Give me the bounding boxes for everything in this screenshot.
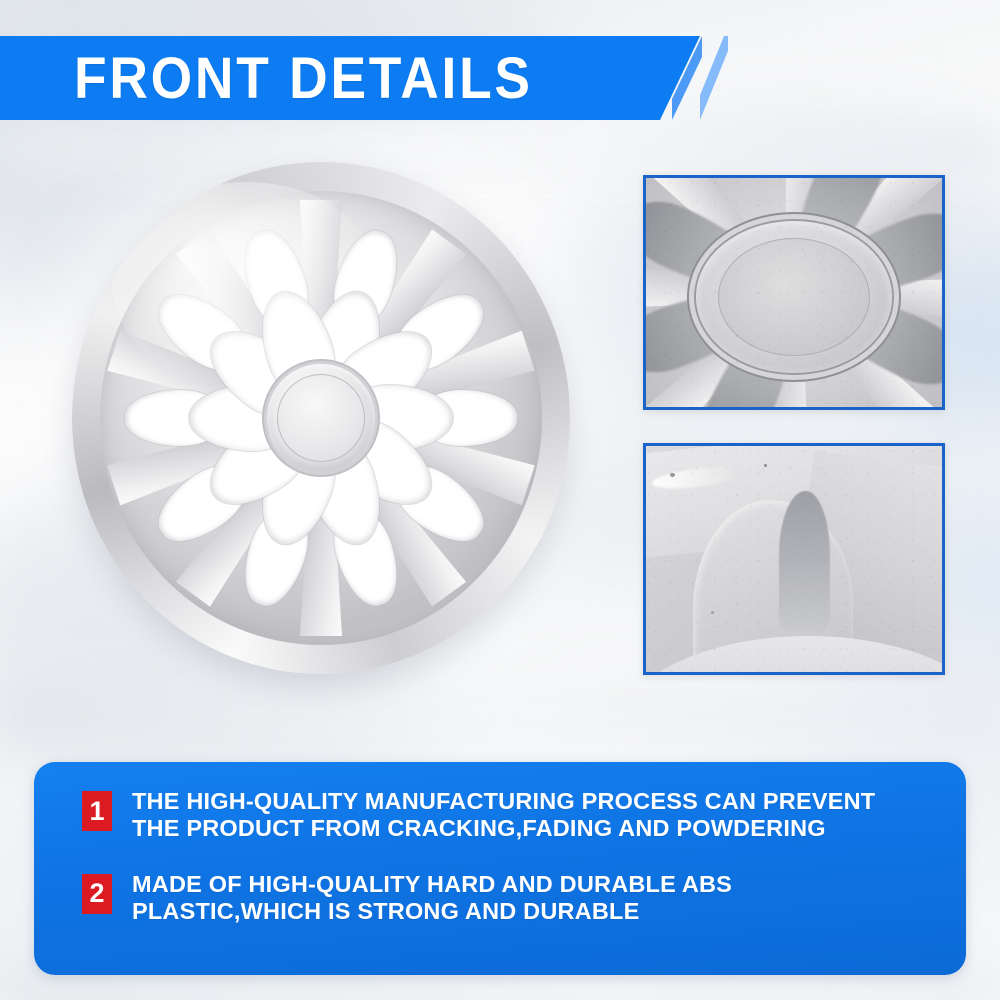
background-band [0, 680, 1000, 750]
feature-list-box: 1 THE HIGH-QUALITY MANUFACTURING PROCESS… [34, 762, 966, 975]
center-cap-macro [646, 178, 942, 407]
hubcap-body [72, 162, 570, 674]
page-title: FRONT DETAILS [74, 36, 533, 120]
center-cap-ring [277, 374, 366, 463]
macro-edge-notch [779, 491, 829, 631]
feature-text: THE HIGH-QUALITY MANUFACTURING PROCESS C… [132, 788, 912, 843]
feature-item: 2 MADE OF HIGH-QUALITY HARD AND DURABLE … [82, 871, 932, 926]
macro-center-cap-disc [696, 221, 892, 373]
surface-speck [670, 473, 675, 477]
header-banner: FRONT DETAILS [0, 36, 740, 120]
detail-panel-spoke-edge [643, 443, 945, 675]
feature-text: MADE OF HIGH-QUALITY HARD AND DURABLE AB… [132, 871, 912, 926]
feature-number-badge: 1 [82, 791, 112, 831]
detail-panel-center-cap [643, 175, 945, 410]
banner-accent-stripe [700, 36, 728, 120]
background-band [0, 975, 1000, 1000]
center-cap [267, 364, 375, 472]
hero-product-image [72, 162, 570, 674]
feature-item: 1 THE HIGH-QUALITY MANUFACTURING PROCESS… [82, 788, 932, 843]
product-detail-image: FRONT DETAILS [0, 0, 1000, 1000]
macro-center-cap-inner [718, 238, 871, 357]
spoke-edge-macro [646, 446, 942, 672]
feature-number-badge: 2 [82, 874, 112, 914]
